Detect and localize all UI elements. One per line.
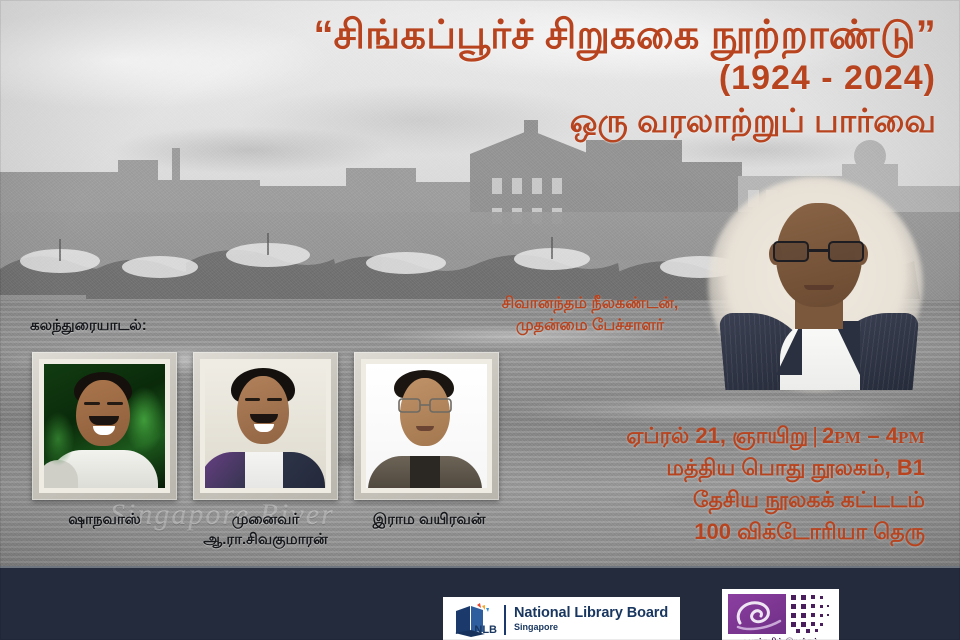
poster-title-block: “சிங்கப்பூர்ச் சிறுககை நூற்றாண்டு” (1924… [176, 14, 936, 143]
event-date: ஏப்ரல் 21, ஞாயிறு [626, 423, 808, 448]
speaker-mouth [804, 285, 834, 290]
keynote-speaker-role: முதன்மை பேச்சாளர் [470, 315, 710, 337]
photo-mat [361, 359, 492, 493]
panel-section-label: கலந்துரையாடல்: [30, 317, 147, 336]
event-time-end: 4 [886, 423, 898, 448]
panelist-3-name: இராம வயிரவன் [354, 510, 504, 530]
partner-logo-inner: வளர்தமிழ் இயக்கம் [722, 589, 839, 640]
eyeglasses-icon [771, 241, 867, 263]
photo-mat [39, 359, 170, 493]
panelist-2-name: முனைவர் ஆ.ரா.சிவகுமாரன் [193, 510, 338, 551]
datetime-separator: | [808, 423, 822, 448]
panel-member-photo-frame [354, 352, 499, 500]
panel-member-photo-frame [193, 352, 338, 500]
event-datetime-line: ஏப்ரல் 21, ஞாயிறு|2PM – 4PM [505, 420, 925, 452]
venue-line-2: தேசிய நூலகக் கட்டடம் [505, 484, 925, 516]
speaker-photo [700, 185, 935, 390]
nlb-logo: NLB National Library Board Singapore [443, 597, 680, 640]
panelist-2-photo [205, 364, 326, 488]
panelist-3-name-line1: இராம வயிரவன் [354, 510, 504, 530]
partner-dotmatrix-icon [789, 593, 833, 635]
nlb-name: National Library Board [514, 606, 668, 621]
panel-members-row [32, 352, 499, 500]
nlb-abbreviation: NLB [474, 624, 497, 636]
event-time-start-unit: PM [834, 428, 861, 447]
poster-title-years: (1924 - 2024) [176, 57, 936, 100]
panelist-2-name-line2: ஆ.ரா.சிவகுமாரன் [193, 530, 338, 550]
panelist-3-photo [366, 364, 487, 488]
poster-title: “சிங்கப்பூர்ச் சிறுககை நூற்றாண்டு” [176, 14, 936, 57]
nlb-wordmark: National Library Board Singapore [504, 605, 668, 635]
panelist-1-name: ஷாநவாஸ் [32, 510, 177, 530]
poster-footer: NLB National Library Board Singapore [0, 566, 960, 640]
event-details: ஏப்ரல் 21, ஞாயிறு|2PM – 4PM மத்திய பொது … [505, 420, 925, 548]
panelist-1-name-line1: ஷாநவாஸ் [32, 510, 177, 530]
keynote-speaker-portrait [700, 185, 935, 390]
nlb-book-icon: NLB [452, 603, 496, 637]
panelist-2-name-line1: முனைவர் [193, 510, 338, 530]
poster-subtitle: ஒரு வரலாற்றுப் பார்வை [176, 100, 936, 143]
photo-mat [200, 359, 331, 493]
keynote-speaker-caption: சிவானந்தம் நீலகண்டன், முதன்மை பேச்சாளர் [470, 293, 710, 337]
speaker-collar-left [776, 321, 802, 375]
nlb-country: Singapore [514, 622, 668, 633]
eyeglasses-icon [398, 398, 452, 414]
keynote-speaker-name: சிவானந்தம் நீலகண்டன், [470, 293, 710, 315]
event-time-end-unit: PM [898, 428, 925, 447]
venue-line-1: மத்திய பொது நூலகம், B1 [505, 452, 925, 484]
partner-logo: வளர்தமிழ் இயக்கம் [722, 589, 839, 640]
event-poster: Singapore River “சிங்கப்பூர்ச் சிறுககை ந… [0, 0, 960, 640]
panel-member-photo-frame [32, 352, 177, 500]
event-time-start: 2 [822, 423, 834, 448]
venue-line-3: 100 விக்டோரியா தெரு [505, 516, 925, 548]
speaker-collar-right [834, 321, 860, 375]
partner-caption: வளர்தமிழ் இயக்கம் [722, 637, 839, 640]
event-time-dash: – [867, 423, 879, 448]
panelist-1-photo [44, 364, 165, 488]
